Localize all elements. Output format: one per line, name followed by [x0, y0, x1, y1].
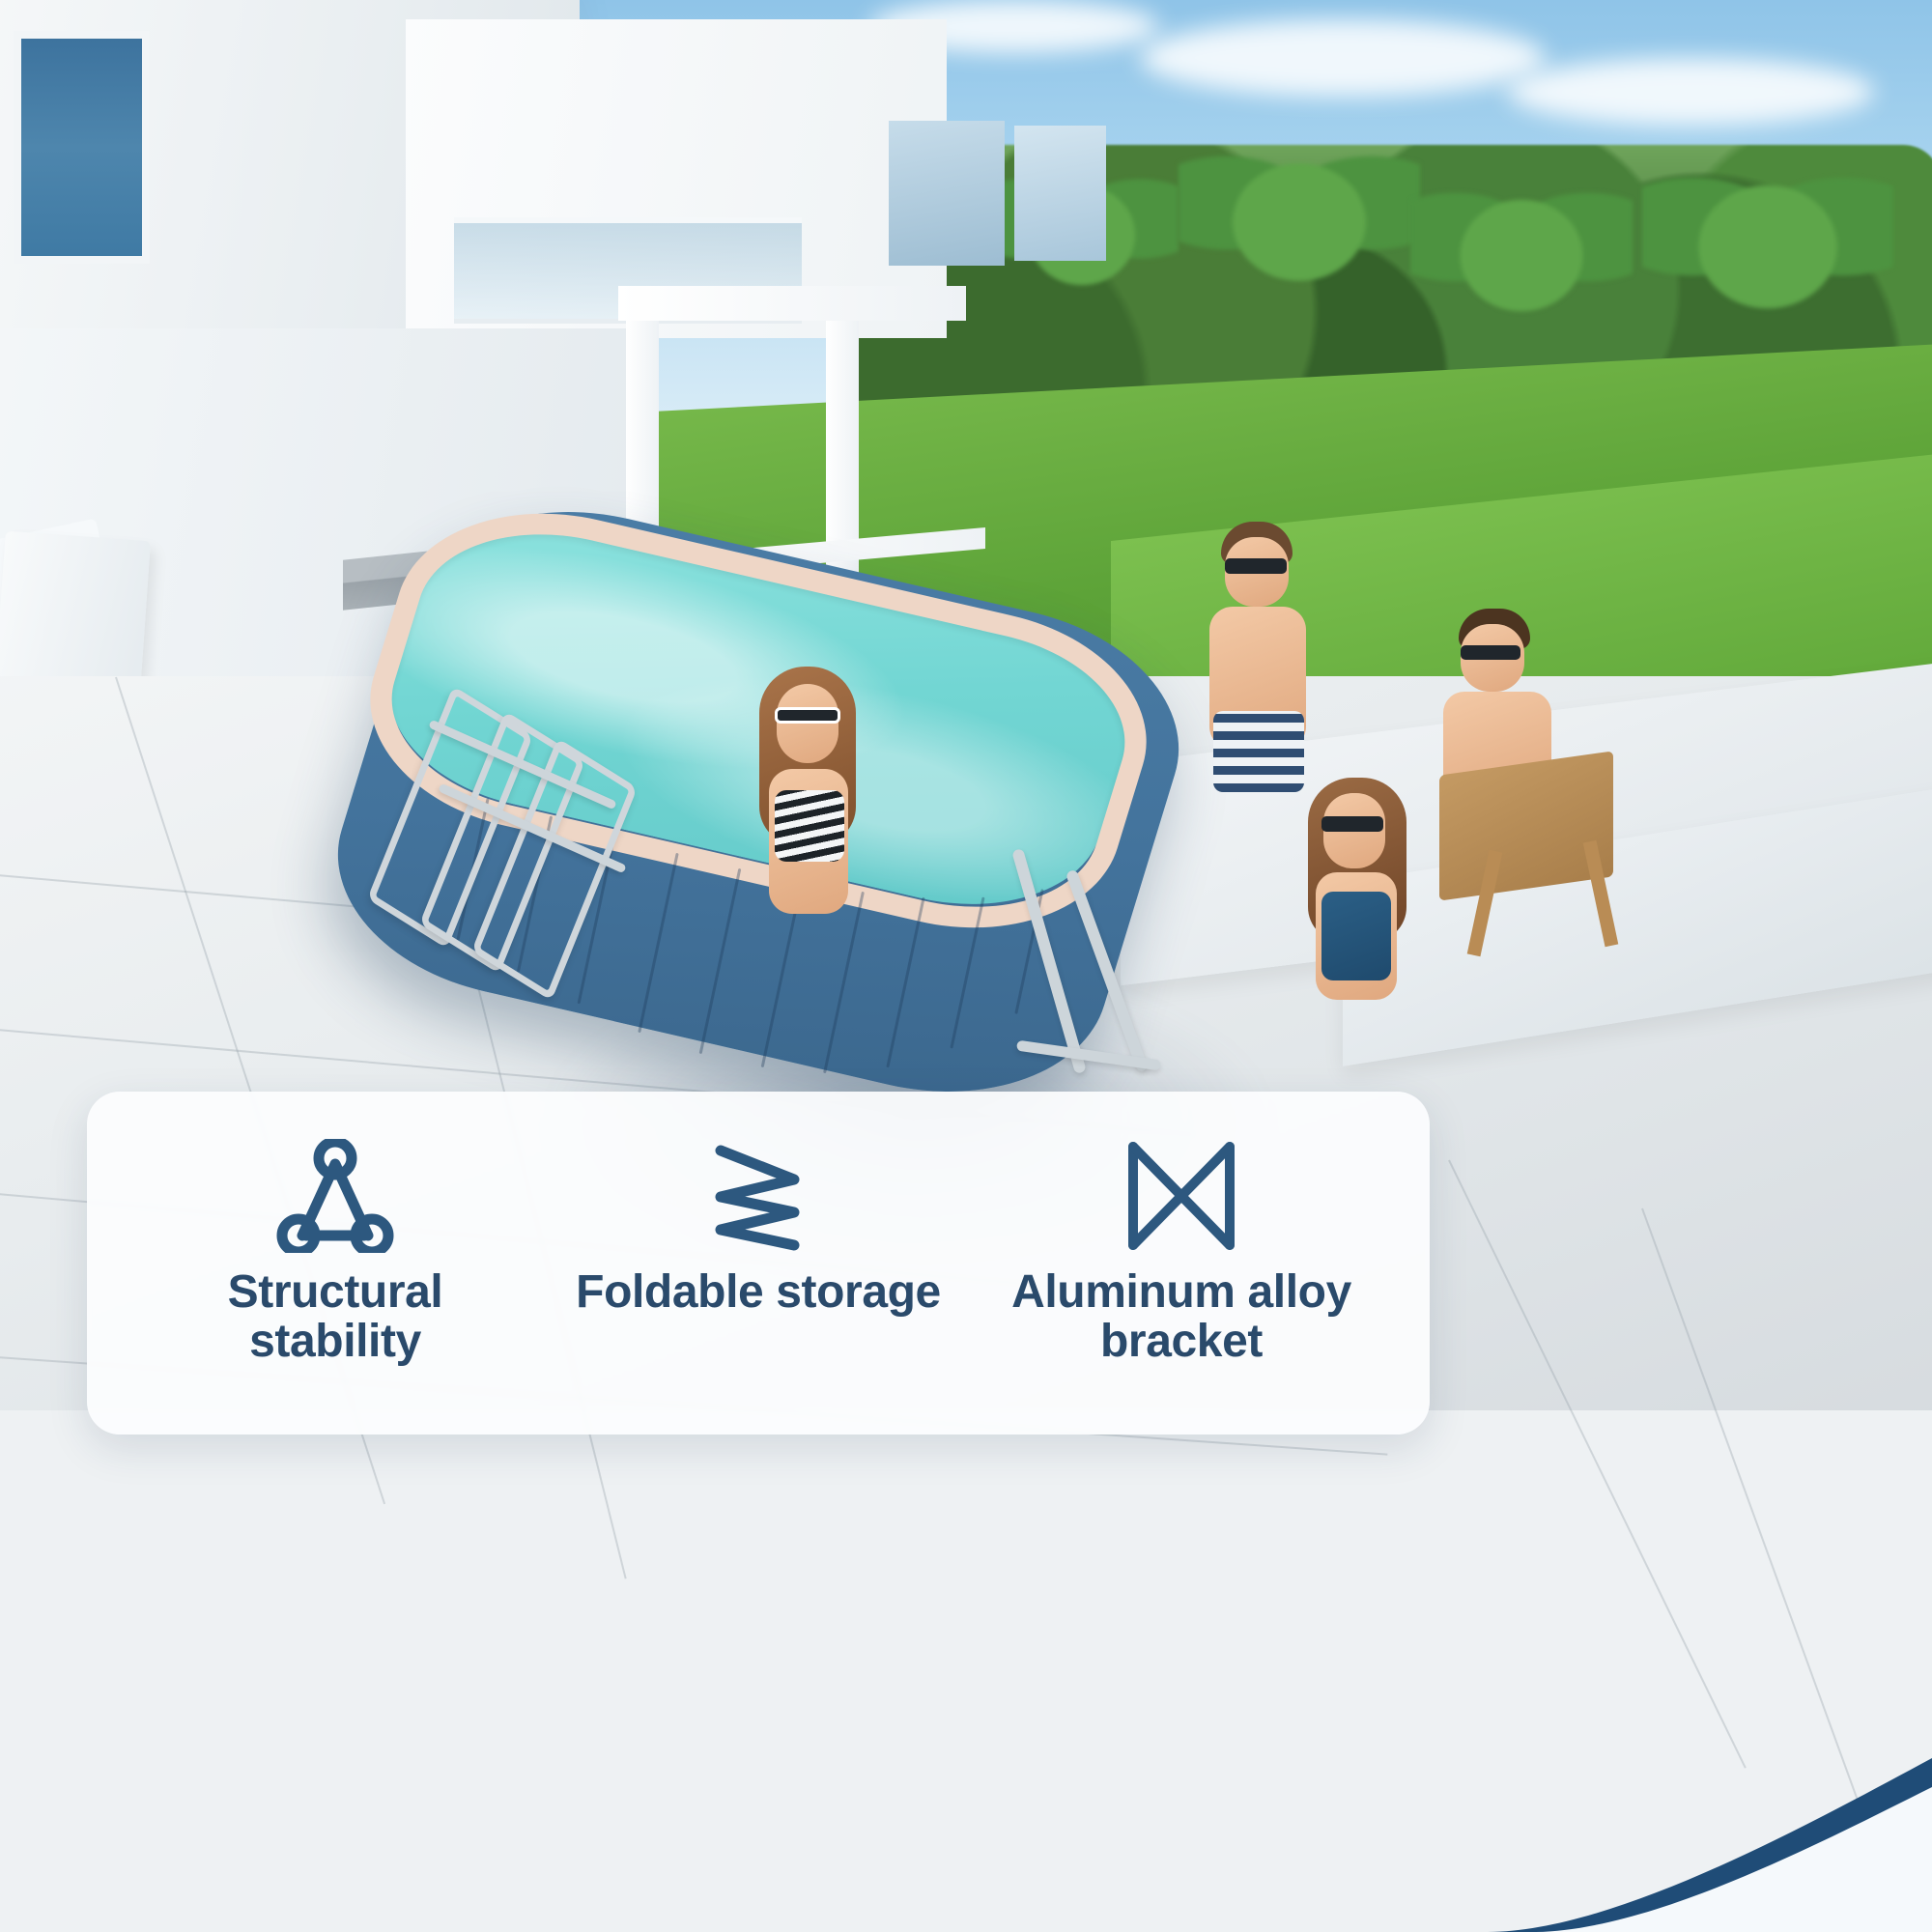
- feature-aluminum-alloy-bracket[interactable]: Aluminum alloy bracket: [970, 1140, 1393, 1367]
- bracket-m-icon: [1120, 1140, 1243, 1251]
- wooden-deck-chair: [1439, 751, 1613, 900]
- truss-triangle-icon: [273, 1140, 397, 1251]
- zigzag-fold-icon: [701, 1140, 815, 1251]
- house-window-tall: [889, 121, 1005, 266]
- cloud-icon: [1507, 58, 1874, 126]
- feature-foldable-storage[interactable]: Foldable storage: [547, 1140, 970, 1318]
- palm-tree-icon: [1179, 116, 1420, 309]
- palm-tree-icon: [1642, 135, 1893, 338]
- cloud-icon: [1140, 19, 1546, 97]
- feature-label: Foldable storage: [576, 1268, 941, 1318]
- pergola-beam: [618, 286, 966, 321]
- person-in-pool-girl: [1294, 778, 1420, 1000]
- house-window-blue: [21, 39, 142, 256]
- palm-tree-icon: [1410, 155, 1633, 338]
- feature-label: Aluminum alloy bracket: [1011, 1268, 1351, 1367]
- feature-label: Structural stability: [228, 1268, 443, 1367]
- feature-structural-stability[interactable]: Structural stability: [124, 1140, 547, 1367]
- person-in-pool-woman: [744, 667, 869, 927]
- person-standing-man: [1198, 522, 1323, 792]
- house-window-tall: [1014, 126, 1106, 261]
- feature-card: Structural stability Foldable storage Al…: [87, 1092, 1430, 1435]
- product-scene-photo: [0, 0, 1932, 1932]
